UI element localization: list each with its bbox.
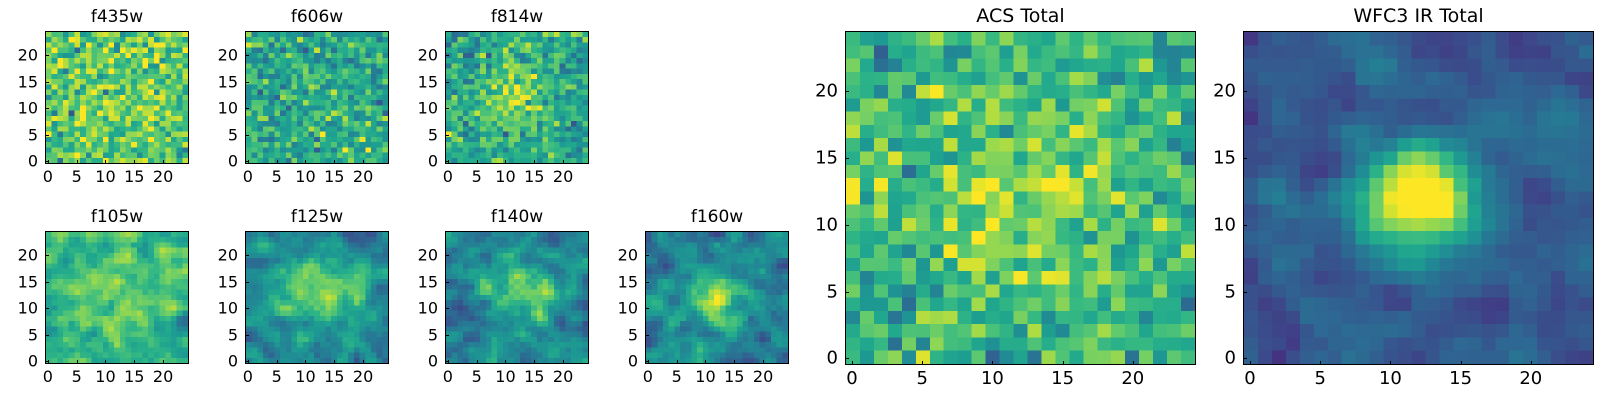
xtick-wfc3_ir_total-15	[1461, 361, 1462, 365]
ytick-f606w-15	[245, 82, 249, 83]
ytick-f140w-15	[445, 282, 449, 283]
yticklabel-f814w-0: 0	[398, 152, 438, 171]
yticklabel-acs_total-0: 0	[798, 348, 838, 369]
panel-acs_total: ACS Total0510152005101520	[845, 31, 1196, 365]
xtick-f160w-5	[677, 360, 678, 364]
xticklabel-f160w-5: 5	[672, 367, 682, 386]
xticklabel-f814w-20: 20	[553, 167, 573, 186]
ytick-f125w-5	[245, 335, 249, 336]
xticklabel-f125w-20: 20	[353, 367, 373, 386]
xticklabel-acs_total-10: 10	[981, 368, 1004, 389]
heatmap-f140w	[446, 232, 588, 363]
xticklabel-f105w-15: 15	[124, 367, 144, 386]
yticklabel-acs_total-20: 20	[798, 81, 838, 102]
xtick-f435w-20	[163, 160, 164, 164]
xtick-f606w-5	[277, 160, 278, 164]
plot-area-acs_total	[845, 31, 1196, 365]
yticklabel-acs_total-5: 5	[798, 281, 838, 302]
xticklabel-f814w-10: 10	[495, 167, 515, 186]
ytick-f125w-20	[245, 255, 249, 256]
ytick-f160w-10	[645, 308, 649, 309]
panel-f814w: f814w0510152005101520	[445, 31, 589, 164]
xticklabel-f105w-20: 20	[153, 367, 173, 386]
panel-f125w: f125w0510152005101520	[245, 231, 389, 364]
heatmap-wfc3_ir_total	[1244, 32, 1593, 364]
xtick-wfc3_ir_total-10	[1390, 361, 1391, 365]
ytick-f814w-20	[445, 55, 449, 56]
xtick-f435w-10	[105, 160, 106, 164]
yticklabel-f606w-20: 20	[198, 45, 238, 64]
xtick-f105w-15	[134, 360, 135, 364]
yticklabel-f105w-20: 20	[0, 245, 38, 264]
xticklabel-f125w-15: 15	[324, 367, 344, 386]
yticklabel-acs_total-10: 10	[798, 214, 838, 235]
xtick-f435w-15	[134, 160, 135, 164]
xtick-acs_total-15	[1063, 361, 1064, 365]
yticklabel-f105w-15: 15	[0, 272, 38, 291]
xticklabel-f814w-0: 0	[443, 167, 453, 186]
xtick-f606w-15	[334, 160, 335, 164]
yticklabel-f435w-15: 15	[0, 72, 38, 91]
panel-wfc3_ir_total: WFC3 IR Total0510152005101520	[1243, 31, 1594, 365]
panel-title-f435w: f435w	[45, 7, 189, 27]
yticklabel-f160w-10: 10	[598, 299, 638, 318]
ytick-f125w-0	[245, 361, 249, 362]
xticklabel-acs_total-20: 20	[1121, 368, 1144, 389]
yticklabel-f105w-5: 5	[0, 325, 38, 344]
ytick-acs_total-10	[845, 225, 849, 226]
ytick-f140w-5	[445, 335, 449, 336]
yticklabel-f160w-5: 5	[598, 325, 638, 344]
ytick-acs_total-15	[845, 158, 849, 159]
xtick-f140w-5	[477, 360, 478, 364]
xticklabel-f606w-20: 20	[353, 167, 373, 186]
yticklabel-f435w-5: 5	[0, 125, 38, 144]
xticklabel-f125w-0: 0	[243, 367, 253, 386]
heatmap-acs_total	[846, 32, 1195, 364]
xtick-f125w-20	[363, 360, 364, 364]
ytick-f814w-5	[445, 135, 449, 136]
xticklabel-f435w-0: 0	[43, 167, 53, 186]
xtick-f160w-15	[734, 360, 735, 364]
ytick-f814w-10	[445, 108, 449, 109]
xticklabel-wfc3_ir_total-20: 20	[1519, 368, 1542, 389]
yticklabel-wfc3_ir_total-10: 10	[1196, 214, 1236, 235]
yticklabel-f606w-10: 10	[198, 99, 238, 118]
xtick-f814w-20	[563, 160, 564, 164]
yticklabel-f435w-0: 0	[0, 152, 38, 171]
ytick-f606w-10	[245, 108, 249, 109]
ytick-f105w-10	[45, 308, 49, 309]
xticklabel-wfc3_ir_total-5: 5	[1314, 368, 1325, 389]
panel-title-f606w: f606w	[245, 7, 389, 27]
xticklabel-f140w-15: 15	[524, 367, 544, 386]
ytick-wfc3_ir_total-20	[1243, 91, 1247, 92]
yticklabel-f435w-10: 10	[0, 99, 38, 118]
ytick-wfc3_ir_total-10	[1243, 225, 1247, 226]
yticklabel-wfc3_ir_total-20: 20	[1196, 81, 1236, 102]
yticklabel-f125w-10: 10	[198, 299, 238, 318]
xticklabel-f160w-0: 0	[643, 367, 653, 386]
plot-area-f435w	[45, 31, 189, 164]
ytick-f435w-5	[45, 135, 49, 136]
plot-area-f814w	[445, 31, 589, 164]
xticklabel-f435w-20: 20	[153, 167, 173, 186]
xticklabel-f606w-0: 0	[243, 167, 253, 186]
yticklabel-f125w-0: 0	[198, 352, 238, 371]
panel-title-f140w: f140w	[445, 207, 589, 227]
yticklabel-f606w-5: 5	[198, 125, 238, 144]
ytick-f160w-0	[645, 361, 649, 362]
xtick-f125w-5	[277, 360, 278, 364]
ytick-wfc3_ir_total-15	[1243, 158, 1247, 159]
plot-area-f125w	[245, 231, 389, 364]
yticklabel-f160w-20: 20	[598, 245, 638, 264]
xticklabel-f125w-5: 5	[272, 367, 282, 386]
panel-f105w: f105w0510152005101520	[45, 231, 189, 364]
xtick-wfc3_ir_total-5	[1320, 361, 1321, 365]
yticklabel-f814w-20: 20	[398, 45, 438, 64]
xticklabel-f606w-10: 10	[295, 167, 315, 186]
xtick-acs_total-0	[852, 361, 853, 365]
ytick-f606w-0	[245, 161, 249, 162]
panel-title-f125w: f125w	[245, 207, 389, 227]
yticklabel-f814w-5: 5	[398, 125, 438, 144]
ytick-f435w-20	[45, 55, 49, 56]
xtick-f160w-10	[705, 360, 706, 364]
yticklabel-wfc3_ir_total-0: 0	[1196, 348, 1236, 369]
yticklabel-f125w-15: 15	[198, 272, 238, 291]
xticklabel-acs_total-15: 15	[1051, 368, 1074, 389]
yticklabel-f140w-15: 15	[398, 272, 438, 291]
ytick-f105w-5	[45, 335, 49, 336]
heatmap-f814w	[446, 32, 588, 163]
xticklabel-f140w-5: 5	[472, 367, 482, 386]
yticklabel-f160w-0: 0	[598, 352, 638, 371]
xtick-f814w-5	[477, 160, 478, 164]
yticklabel-f606w-0: 0	[198, 152, 238, 171]
xticklabel-f140w-0: 0	[443, 367, 453, 386]
xticklabel-wfc3_ir_total-15: 15	[1449, 368, 1472, 389]
xticklabel-f606w-5: 5	[272, 167, 282, 186]
yticklabel-wfc3_ir_total-15: 15	[1196, 147, 1236, 168]
plot-area-f105w	[45, 231, 189, 364]
xticklabel-wfc3_ir_total-0: 0	[1244, 368, 1255, 389]
ytick-f160w-20	[645, 255, 649, 256]
panel-title-f814w: f814w	[445, 7, 589, 27]
ytick-f814w-15	[445, 82, 449, 83]
panel-f606w: f606w0510152005101520	[245, 31, 389, 164]
yticklabel-wfc3_ir_total-5: 5	[1196, 281, 1236, 302]
ytick-f435w-10	[45, 108, 49, 109]
xticklabel-f435w-10: 10	[95, 167, 115, 186]
xticklabel-f814w-5: 5	[472, 167, 482, 186]
ytick-f160w-15	[645, 282, 649, 283]
xtick-wfc3_ir_total-0	[1250, 361, 1251, 365]
ytick-acs_total-20	[845, 91, 849, 92]
xticklabel-f606w-15: 15	[324, 167, 344, 186]
xticklabel-f160w-20: 20	[753, 367, 773, 386]
yticklabel-f125w-5: 5	[198, 325, 238, 344]
xtick-f125w-15	[334, 360, 335, 364]
ytick-f105w-20	[45, 255, 49, 256]
xtick-acs_total-20	[1133, 361, 1134, 365]
xtick-f105w-20	[163, 360, 164, 364]
xtick-f160w-20	[763, 360, 764, 364]
plot-area-f606w	[245, 31, 389, 164]
ytick-f105w-0	[45, 361, 49, 362]
xticklabel-wfc3_ir_total-10: 10	[1379, 368, 1402, 389]
yticklabel-f140w-5: 5	[398, 325, 438, 344]
panel-title-f105w: f105w	[45, 207, 189, 227]
ytick-wfc3_ir_total-0	[1243, 358, 1247, 359]
xtick-f606w-20	[363, 160, 364, 164]
plot-area-f140w	[445, 231, 589, 364]
plot-area-f160w	[645, 231, 789, 364]
yticklabel-f160w-15: 15	[598, 272, 638, 291]
ytick-f160w-5	[645, 335, 649, 336]
xticklabel-f814w-15: 15	[524, 167, 544, 186]
xticklabel-f105w-10: 10	[95, 367, 115, 386]
panel-title-wfc3_ir_total: WFC3 IR Total	[1243, 5, 1594, 27]
xtick-f814w-10	[505, 160, 506, 164]
xtick-f140w-10	[505, 360, 506, 364]
heatmap-f160w	[646, 232, 788, 363]
ytick-f140w-20	[445, 255, 449, 256]
panel-title-f160w: f160w	[645, 207, 789, 227]
xticklabel-f435w-15: 15	[124, 167, 144, 186]
ytick-f140w-0	[445, 361, 449, 362]
yticklabel-f814w-15: 15	[398, 72, 438, 91]
xticklabel-f140w-20: 20	[553, 367, 573, 386]
xtick-f105w-10	[105, 360, 106, 364]
figure-canvas: f435w0510152005101520f606w05101520051015…	[0, 0, 1600, 400]
xticklabel-f160w-10: 10	[695, 367, 715, 386]
panel-title-acs_total: ACS Total	[845, 5, 1196, 27]
xtick-acs_total-10	[992, 361, 993, 365]
xtick-acs_total-5	[922, 361, 923, 365]
heatmap-f435w	[46, 32, 188, 163]
ytick-wfc3_ir_total-5	[1243, 292, 1247, 293]
ytick-f140w-10	[445, 308, 449, 309]
xtick-wfc3_ir_total-20	[1531, 361, 1532, 365]
yticklabel-f814w-10: 10	[398, 99, 438, 118]
xticklabel-f160w-15: 15	[724, 367, 744, 386]
xtick-f140w-15	[534, 360, 535, 364]
xticklabel-f125w-10: 10	[295, 367, 315, 386]
heatmap-f606w	[246, 32, 388, 163]
ytick-f814w-0	[445, 161, 449, 162]
ytick-acs_total-0	[845, 358, 849, 359]
xticklabel-acs_total-0: 0	[846, 368, 857, 389]
yticklabel-f435w-20: 20	[0, 45, 38, 64]
yticklabel-f105w-0: 0	[0, 352, 38, 371]
panel-f140w: f140w0510152005101520	[445, 231, 589, 364]
xticklabel-acs_total-5: 5	[916, 368, 927, 389]
xtick-f606w-10	[305, 160, 306, 164]
yticklabel-f606w-15: 15	[198, 72, 238, 91]
yticklabel-acs_total-15: 15	[798, 147, 838, 168]
ytick-acs_total-5	[845, 292, 849, 293]
panel-f435w: f435w0510152005101520	[45, 31, 189, 164]
ytick-f435w-15	[45, 82, 49, 83]
heatmap-f105w	[46, 232, 188, 363]
ytick-f105w-15	[45, 282, 49, 283]
xtick-f105w-5	[77, 360, 78, 364]
yticklabel-f140w-10: 10	[398, 299, 438, 318]
yticklabel-f105w-10: 10	[0, 299, 38, 318]
xticklabel-f435w-5: 5	[72, 167, 82, 186]
xticklabel-f140w-10: 10	[495, 367, 515, 386]
yticklabel-f140w-20: 20	[398, 245, 438, 264]
ytick-f125w-10	[245, 308, 249, 309]
ytick-f435w-0	[45, 161, 49, 162]
ytick-f606w-5	[245, 135, 249, 136]
heatmap-f125w	[246, 232, 388, 363]
yticklabel-f140w-0: 0	[398, 352, 438, 371]
xtick-f125w-10	[305, 360, 306, 364]
panel-f160w: f160w0510152005101520	[645, 231, 789, 364]
yticklabel-f125w-20: 20	[198, 245, 238, 264]
xticklabel-f105w-5: 5	[72, 367, 82, 386]
xtick-f140w-20	[563, 360, 564, 364]
xticklabel-f105w-0: 0	[43, 367, 53, 386]
ytick-f125w-15	[245, 282, 249, 283]
plot-area-wfc3_ir_total	[1243, 31, 1594, 365]
xtick-f814w-15	[534, 160, 535, 164]
ytick-f606w-20	[245, 55, 249, 56]
xtick-f435w-5	[77, 160, 78, 164]
